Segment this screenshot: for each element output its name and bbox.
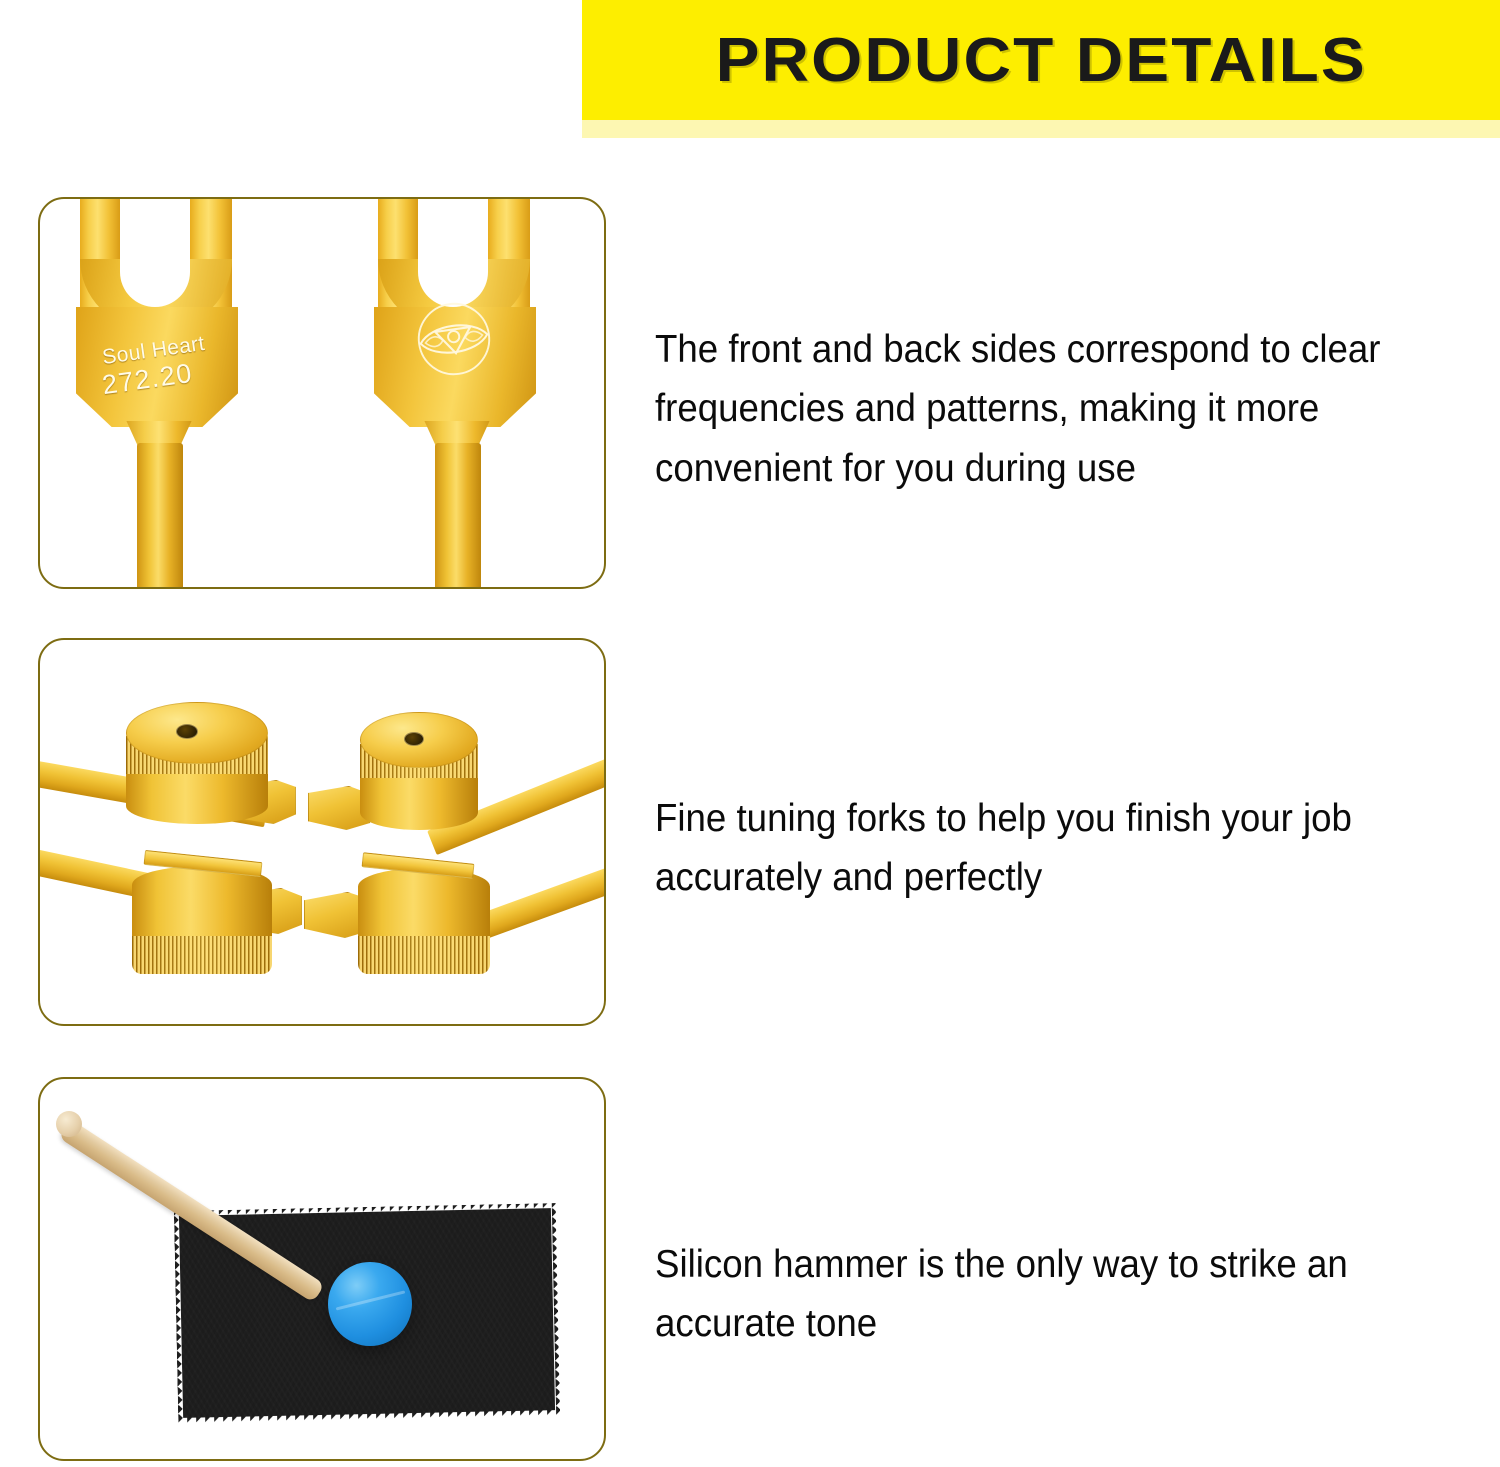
third-eye-chakra-icon — [409, 294, 499, 384]
tuning-weight-lower-right — [358, 852, 490, 988]
fork-u-slot-left — [120, 197, 190, 307]
tuning-weight-upper-right — [360, 712, 478, 840]
silicone-hammer-photo — [40, 1079, 604, 1459]
weight-knurl-lower-left — [132, 936, 272, 974]
hammer-handle-end-cap — [56, 1111, 82, 1137]
feature-image-card-3 — [38, 1077, 606, 1461]
weight-screw-hole-upper-left — [176, 724, 198, 739]
feature-image-card-1: Soul Heart 272.20 — [38, 197, 606, 589]
product-details-page: PRODUCT DETAILS Soul Heart — [0, 0, 1500, 1467]
tuning-weight-lower-left — [132, 850, 272, 988]
feature-text-3: Silicon hammer is the only way to strike… — [655, 1235, 1398, 1354]
header-banner: PRODUCT DETAILS — [582, 0, 1500, 120]
fork-u-slot-right — [418, 197, 488, 307]
fork-stem-right — [435, 443, 481, 589]
feature-text-2: Fine tuning forks to help you finish you… — [655, 789, 1398, 908]
weight-knurl-lower-right — [358, 936, 490, 974]
feature-text-1: The front and back sides correspond to c… — [655, 320, 1398, 498]
tuning-weight-upper-left — [126, 702, 268, 837]
page-title: PRODUCT DETAILS — [715, 25, 1366, 96]
tuning-fork-heads-photo: Soul Heart 272.20 — [40, 199, 604, 587]
header-banner-underglow — [582, 120, 1500, 138]
fork-stem-left — [137, 443, 183, 589]
hammer-silicone-ball-head — [328, 1262, 412, 1346]
fine-tuning-weights-photo — [40, 640, 604, 1024]
feature-image-card-2 — [38, 638, 606, 1026]
weight-screw-hole-upper-right — [404, 732, 424, 746]
ball-seam — [335, 1290, 404, 1310]
